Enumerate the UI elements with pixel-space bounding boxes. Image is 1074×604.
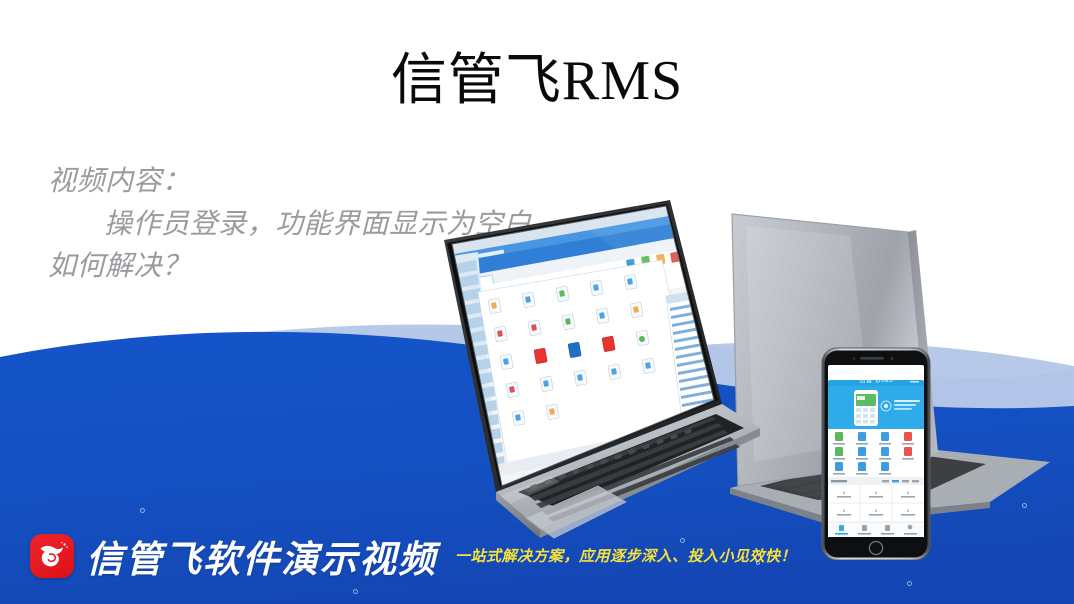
laptop-front — [444, 200, 760, 538]
footer-brand-bar: 信管飞软件演示视频 一站式解决方案，应用逐步深入、投入小见效快！ — [0, 508, 1074, 604]
brand-title: 信管飞软件演示视频 — [86, 529, 437, 583]
device-mockup-group: 信管飞RMS — [430, 200, 1074, 560]
eagle-logo-icon — [30, 534, 74, 578]
description-line-1: 视频内容： — [48, 160, 648, 203]
brand-tagline: 一站式解决方案，应用逐步深入、投入小见效快！ — [455, 545, 796, 568]
page-title: 信管飞RMS — [0, 52, 1074, 111]
slide-canvas: 信管飞RMS 视频内容： 操作员登录，功能界面显示为空白， 如何解决？ — [0, 0, 1074, 604]
